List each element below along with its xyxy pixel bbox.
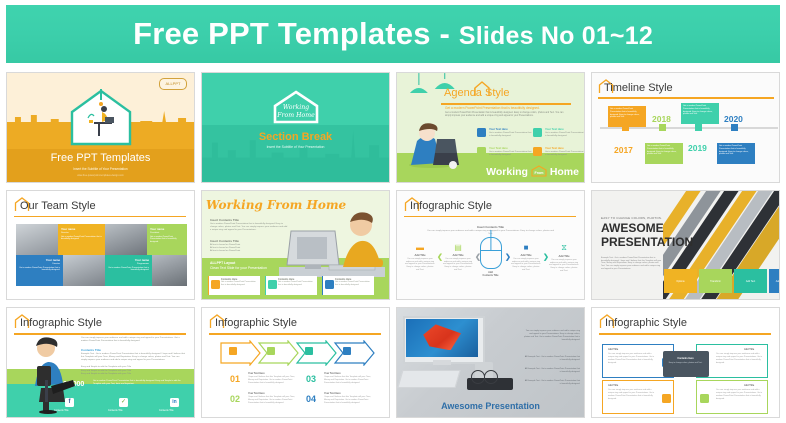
- wfh-heading-2: Insert Contents Title: [210, 239, 239, 243]
- info-column-1: ▬ Add Title You can simply impress your …: [405, 243, 435, 273]
- member-name: Your name: [61, 227, 102, 231]
- team-photo-4: [152, 255, 187, 286]
- slide-thumbnail-12[interactable]: Infographic Style Add Title You can simp…: [591, 307, 780, 418]
- member-body: Get a modern PowerPoint Presentation tha…: [150, 236, 184, 244]
- photo-paragraph-3: All Example Text : Get a modern PowerPoi…: [524, 368, 580, 374]
- team-title: Our Team Style: [20, 200, 96, 212]
- team-photo-3: [63, 255, 105, 286]
- column-title: Add Title: [405, 254, 435, 257]
- section-break-title: Section Break: [202, 131, 389, 143]
- slide-thumbnail-11[interactable]: You can simply impress your audience and…: [396, 307, 585, 418]
- step-heading-04: Your Text Here: [324, 392, 341, 395]
- card-body: Get a modern PowerPoint Presentation tha…: [278, 281, 315, 287]
- title-underline: [441, 103, 571, 105]
- card-icon: [268, 280, 277, 289]
- contents-title: Contents Title: [81, 348, 101, 352]
- hub-title: Contents Here: [663, 357, 709, 360]
- team-card-3: Your name Director Get a modern PowerPoi…: [16, 255, 63, 286]
- cloud-icon: [343, 347, 351, 355]
- cover-subtitle: Insert the Subtitle of Your Presentation: [7, 167, 194, 171]
- photo-paragraph-4: All Example Text : Get a modern PowerPoi…: [524, 380, 580, 386]
- agenda-lead: Get a modern PowerPoint Presentation tha…: [445, 106, 540, 110]
- step-number-03: 03: [306, 374, 316, 384]
- member-role: Director: [19, 263, 60, 265]
- card-body: Get a modern PowerPoint Presentation tha…: [221, 281, 258, 287]
- slide-thumbnail-6[interactable]: Working From Home Insert Contents Title …: [201, 190, 390, 301]
- chip-options[interactable]: Options: [664, 269, 697, 293]
- quadrant-body-1: You can simply impress your audience and…: [608, 353, 656, 364]
- infographic-title: Infographic Style: [20, 317, 102, 329]
- slide-thumbnail-4[interactable]: Timeline Style Get a modern PowerPoint P…: [591, 72, 780, 183]
- allppt-logo: ALLPPT: [159, 78, 187, 90]
- quadrant-heading-4: Add Title: [744, 384, 754, 387]
- contact-label-3: Contents Title: [159, 409, 174, 412]
- wfh-card-1: Contents Here Get a modern PowerPoint Pr…: [208, 276, 260, 295]
- slide-thumbnail-10[interactable]: Infographic Style 01 Your Text Here I ho…: [201, 307, 390, 418]
- quadrant-body-4: You can simply impress your audience and…: [716, 389, 764, 400]
- column-title: Add Title: [443, 254, 473, 257]
- member-body: Get a modern PowerPoint Presentation tha…: [19, 267, 60, 273]
- step-number-02: 02: [230, 394, 240, 404]
- title-underline: [598, 97, 774, 99]
- monitor-stand: [433, 360, 451, 365]
- timeline-box-2018: Get a modern PowerPoint Presentation tha…: [645, 143, 683, 164]
- agenda-item-body: Get a modern PowerPoint Presentation tha…: [489, 151, 533, 157]
- slide-thumbnail-9[interactable]: Infographic Style You can simply impress…: [6, 307, 195, 418]
- photo-title: Awesome Presentation: [397, 401, 584, 411]
- card-icon: [211, 280, 220, 289]
- infographic-title: Infographic Style: [215, 317, 297, 329]
- member-body: Get a modern PowerPoint Presentation tha…: [61, 236, 102, 242]
- bullet-item: Easy and Simple to edit the Template wit…: [81, 370, 131, 372]
- agenda-item-heading: Your Text Here: [545, 147, 564, 150]
- banner-title: Free PPT Templates - Slides No 01~12: [133, 16, 653, 52]
- title-underline: [14, 216, 186, 218]
- wfh-cta-2: Clean Text Slide for your Presentation: [210, 266, 267, 270]
- lead-text: You can simply impress your audience and…: [81, 337, 186, 343]
- hub-body: Easy to change colors, photos and Text.: [668, 362, 704, 365]
- slide-thumbnail-1[interactable]: ALLPPT Free PPT Templates Insert the Sub…: [6, 72, 195, 183]
- team-photo-1: [16, 224, 58, 255]
- timeline-year-2019: 2019: [688, 143, 707, 153]
- contact-label-1: Contents Title: [54, 409, 69, 412]
- agenda-item-icon: [477, 128, 486, 137]
- title-underline: [209, 333, 381, 335]
- contact-label-2: Contents Title: [108, 409, 123, 412]
- timeline-node-2018: [659, 124, 666, 131]
- member-name: Your name: [150, 227, 184, 231]
- slide-thumbnail-8[interactable]: EASY TO CHANGE COLORS, PHOTOS. AWESOME P…: [591, 190, 780, 301]
- bullet-item: Easy and Simple to edit the Template wit…: [81, 373, 131, 375]
- step-heading-03: Your Text Here: [324, 372, 341, 375]
- footer-house-icon: From: [531, 165, 547, 177]
- info-column-2: ▤ Add Title You can simply impress your …: [443, 243, 473, 273]
- center-hub: Contents Here Easy to change colors, pho…: [663, 351, 709, 377]
- timeline-node-2020: [731, 124, 738, 131]
- step-number-04: 04: [306, 394, 316, 404]
- agenda-item-heading: Your Text Here: [489, 147, 508, 150]
- agenda-item-heading: Your Text Here: [489, 128, 508, 131]
- timeline-year-2017: 2017: [614, 145, 633, 155]
- bullet-item: Easy and Simple to edit the Template wit…: [81, 366, 131, 368]
- slide-thumbnail-2[interactable]: Working From Home Section Break Insert t…: [201, 72, 390, 183]
- step-body-02: I hope and I believe that this Template …: [248, 396, 300, 404]
- footer-word-home: Home: [550, 166, 579, 178]
- slide-thumbnail-7[interactable]: Infographic Style Insert Contents Title …: [396, 190, 585, 301]
- agenda-item-icon: [533, 147, 542, 156]
- page-banner: Free PPT Templates - Slides No 01~12: [6, 5, 780, 63]
- quadrant-body-2: You can simply impress your audience and…: [716, 353, 764, 364]
- team-card-2: Your name President Get a modern PowerPo…: [147, 224, 187, 255]
- svg-text:Working: Working: [282, 104, 308, 111]
- svg-text:From Home: From Home: [276, 112, 315, 119]
- keyboard-photo: [397, 370, 460, 388]
- step-heading-02: Your Text Here: [248, 392, 265, 395]
- agenda-item-icon: [533, 128, 542, 137]
- info-column-4: ⧖ Add Title You can simply impress your …: [549, 243, 579, 274]
- timeline-box-2020: Get a modern PowerPoint Presentation tha…: [717, 143, 755, 164]
- eyebrow-text: EASY TO CHANGE COLORS, PHOTOS.: [601, 216, 662, 220]
- timeline-node-2019: [695, 124, 702, 131]
- agenda-item-icon: [477, 147, 486, 156]
- chevron-process-graphic: [220, 340, 376, 366]
- member-role: Programmer: [108, 263, 149, 265]
- bullet-item: All text is based on PowerPoint: [210, 250, 240, 252]
- svg-text:From: From: [534, 171, 543, 175]
- cover-title: Free PPT Templates: [7, 152, 194, 164]
- photo-paragraph-1: You can simply impress your audience and…: [524, 330, 580, 341]
- checklist-icon: ✓: [119, 398, 128, 407]
- banner-title-main: Free PPT Templates: [133, 16, 431, 51]
- man-at-computer-illustration: [277, 209, 387, 277]
- chip-transform[interactable]: Transform: [699, 269, 732, 293]
- timeline-title: Timeline Style: [604, 82, 673, 94]
- section-break-subtitle: Insert the Subtitle of Your Presentation: [202, 145, 389, 149]
- ppt-template-gallery: Free PPT Templates - Slides No 01~12: [0, 0, 786, 423]
- hourglass-icon: ⧖: [549, 243, 579, 253]
- awesome-title: AWESOME PRESENTATION: [601, 221, 693, 249]
- puzzle-icon: [700, 394, 709, 403]
- speech-bubble-icon: ▬: [405, 243, 435, 252]
- bullet-item: All text is based on PowerPoint: [210, 244, 240, 246]
- timeline-year-2018: 2018: [652, 114, 671, 124]
- house-script-logo-icon: Working From Home: [273, 90, 319, 124]
- quadrant-heading-3: Add Title: [608, 384, 618, 387]
- book-icon: ▤: [443, 243, 473, 252]
- computer-mouse-icon: [480, 237, 502, 269]
- facebook-icon: f: [65, 398, 74, 407]
- title-line-1: AWESOME: [601, 221, 664, 235]
- quadrant-heading-1: Add Title: [608, 348, 618, 351]
- member-body: Get a modern PowerPoint Presentation tha…: [108, 267, 149, 273]
- team-card-1: Your name Director Get a modern PowerPoi…: [58, 224, 105, 255]
- wfh-cta-1: ALLPPT Layout: [210, 261, 235, 265]
- bullet-list: Easy and Simple to edit the Template wit…: [81, 366, 186, 376]
- member-role: President: [150, 232, 184, 234]
- cover-url: www.free-powerpoint-templates-design.com: [7, 174, 194, 177]
- person-with-laptop-illustration: [401, 113, 465, 169]
- house-outline-icon: [68, 88, 134, 146]
- step-body-03: I hope and I believe that this Template …: [324, 376, 376, 384]
- awesome-body: Example Text : Get a modern PowerPoint P…: [601, 257, 663, 272]
- agenda-item-body: Get a modern PowerPoint Presentation tha…: [545, 151, 584, 157]
- briefcase-icon: ■: [511, 243, 541, 252]
- column-body: You can simply impress your audience and…: [549, 259, 579, 274]
- linkedin-icon: in: [170, 398, 179, 407]
- card-icon: [325, 280, 334, 289]
- title-underline: [404, 216, 576, 218]
- team-photo-2: [105, 224, 147, 255]
- chevron-right-icon: ❯: [543, 253, 549, 261]
- timeline-box-2019: Get a modern PowerPoint Presentation tha…: [681, 103, 719, 124]
- slide-thumbnail-5[interactable]: Our Team Style Your name Director Get a …: [6, 190, 195, 301]
- agenda-item-body: Get a modern PowerPoint Presentation tha…: [545, 132, 584, 138]
- title-underline: [599, 333, 771, 335]
- agenda-item-body: Get a modern PowerPoint Presentation tha…: [489, 132, 533, 138]
- mouse-label-line2: Contents Title: [483, 274, 499, 277]
- member-name: Your name: [19, 258, 60, 262]
- chevron-right-icon: ❯: [505, 253, 511, 261]
- slide-grid: ALLPPT Free PPT Templates Insert the Sub…: [6, 72, 780, 418]
- info-column-3: ■ Add Title You can simply impress your …: [511, 243, 541, 273]
- bullet-item: All text is based on PowerPoint: [210, 247, 240, 249]
- banner-title-separator: -: [431, 16, 459, 51]
- card-body: Get a modern PowerPoint Presentation tha…: [335, 281, 372, 287]
- title-underline: [14, 333, 186, 335]
- chip-add-contents-title[interactable]: Add Contents Title: [769, 269, 779, 293]
- step-body-01: I hope and I believe that this Template …: [248, 376, 300, 384]
- wfh-heading-1: Insert Contents Title: [210, 218, 239, 222]
- calculator-icon: [662, 394, 671, 403]
- chevron-left-icon: ❮: [437, 253, 443, 261]
- wfh-card-2: Contents Here Get a modern PowerPoint Pr…: [265, 276, 317, 295]
- quadrant-heading-2: Add Title: [744, 348, 754, 351]
- chip-add-text[interactable]: Add Text: [734, 269, 767, 293]
- quadrant-body-3: You can simply impress your audience and…: [608, 389, 656, 400]
- timeline-node-2017: [622, 124, 629, 131]
- member-role: Director: [61, 232, 102, 234]
- agenda-title: Agenda Style: [444, 87, 509, 99]
- wfh-card-3: Contents Here Get a modern PowerPoint Pr…: [322, 276, 374, 295]
- column-title: Add Title: [511, 254, 541, 257]
- step-heading-01: Your Text Here: [248, 372, 265, 375]
- step-number-01: 01: [230, 374, 240, 384]
- agenda-item-heading: Your Text Here: [545, 128, 564, 131]
- infographic-title: Infographic Style: [605, 317, 687, 329]
- column-title: Add Title: [549, 255, 579, 258]
- step-body-04: I hope and I believe that this Template …: [324, 396, 376, 404]
- center-heading: Insert Contents Title: [397, 225, 584, 229]
- slide-thumbnail-3[interactable]: Agenda Style Get a modern PowerPoint Pre…: [396, 72, 585, 183]
- footer-word-working: Working: [486, 166, 528, 178]
- team-card-4: Your name Programmer Get a modern PowerP…: [105, 255, 152, 286]
- banner-title-sub: Slides No 01~12: [459, 22, 653, 50]
- contents-body: Example Text : Get a modern PowerPoint P…: [81, 353, 186, 362]
- agenda-footer: Working From Home: [486, 165, 579, 178]
- member-name: Your name: [108, 258, 149, 262]
- monitor-icon: [305, 347, 313, 355]
- column-body: You can simply impress your audience and…: [511, 258, 541, 273]
- photo-paragraph-2: All Example Text : Get a modern PowerPoi…: [524, 356, 580, 362]
- money-text: Get a modern PowerPoint Presentation tha…: [93, 380, 185, 386]
- title-line-2: PRESENTATION: [601, 235, 693, 249]
- infographic-title: Infographic Style: [410, 200, 492, 212]
- camera-icon: [229, 347, 237, 355]
- timeline-year-2020: 2020: [724, 114, 743, 124]
- mail-icon: [267, 347, 275, 355]
